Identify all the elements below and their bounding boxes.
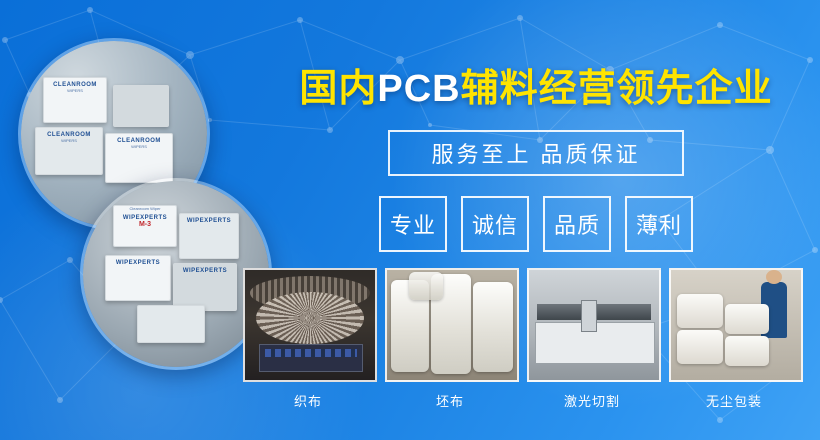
feature-tag-4-label: 薄利 bbox=[636, 208, 682, 240]
feature-tags: 专业 诚信 品质 薄利 bbox=[278, 196, 794, 252]
headline-suffix: 辅料经营领先企业 bbox=[461, 68, 773, 110]
feature-tag-3-label: 品质 bbox=[554, 208, 600, 240]
box-label-sub-3: WIPERS bbox=[106, 144, 172, 149]
thumbnail-laser-cutting: 激光切割 bbox=[527, 268, 657, 410]
process-thumbnails: 织布 坯布 激光切割 无尘包装 bbox=[243, 268, 799, 410]
knitting-machine-icon bbox=[243, 268, 377, 382]
thumbnail-cleanroom-packing: 无尘包装 bbox=[669, 268, 799, 410]
cleanroom-packing-icon bbox=[669, 268, 803, 382]
laser-cutting-icon bbox=[527, 268, 661, 382]
wx-mark-1: M-3 bbox=[114, 221, 176, 228]
thumbnail-greige-caption: 坯布 bbox=[385, 391, 515, 410]
feature-tag-4: 薄利 bbox=[625, 196, 693, 252]
subtitle-box: 服务至上 品质保证 bbox=[388, 130, 684, 176]
thumbnail-weaving: 织布 bbox=[243, 268, 373, 410]
feature-tag-1-label: 专业 bbox=[390, 208, 436, 240]
thumbnail-weaving-caption: 织布 bbox=[243, 391, 373, 410]
page-title: 国内PCB辅料经营领先企业 bbox=[278, 70, 794, 108]
promo-banner: CLEANROOM WIPERS CLEANROOM WIPERS CLEANR… bbox=[0, 0, 820, 440]
thumbnail-greige-fabric: 坯布 bbox=[385, 268, 515, 410]
headline-prefix: 国内 bbox=[299, 68, 377, 110]
headline-highlight: PCB bbox=[377, 68, 460, 110]
thumbnail-packing-caption: 无尘包装 bbox=[669, 391, 799, 410]
thumbnail-laser-caption: 激光切割 bbox=[527, 391, 657, 410]
feature-tag-1: 专业 bbox=[379, 196, 447, 252]
wx-sub-1: Cleanroom Wiper bbox=[114, 206, 176, 211]
box-label-sub: WIPERS bbox=[44, 88, 106, 93]
wx-main-3: WIPEXPERTS bbox=[106, 260, 170, 266]
box-label-sub-2: WIPERS bbox=[36, 138, 102, 143]
subtitle-text: 服务至上 品质保证 bbox=[431, 137, 640, 169]
fabric-rolls-icon bbox=[385, 268, 519, 382]
feature-tag-2-label: 诚信 bbox=[472, 208, 518, 240]
feature-tag-2: 诚信 bbox=[461, 196, 529, 252]
wx-main-2: WIPEXPERTS bbox=[180, 218, 238, 224]
wx-main-4: WIPEXPERTS bbox=[174, 268, 236, 274]
headline-block: 国内PCB辅料经营领先企业 服务至上 品质保证 专业 诚信 品质 薄利 bbox=[278, 70, 794, 252]
feature-tag-3: 品质 bbox=[543, 196, 611, 252]
